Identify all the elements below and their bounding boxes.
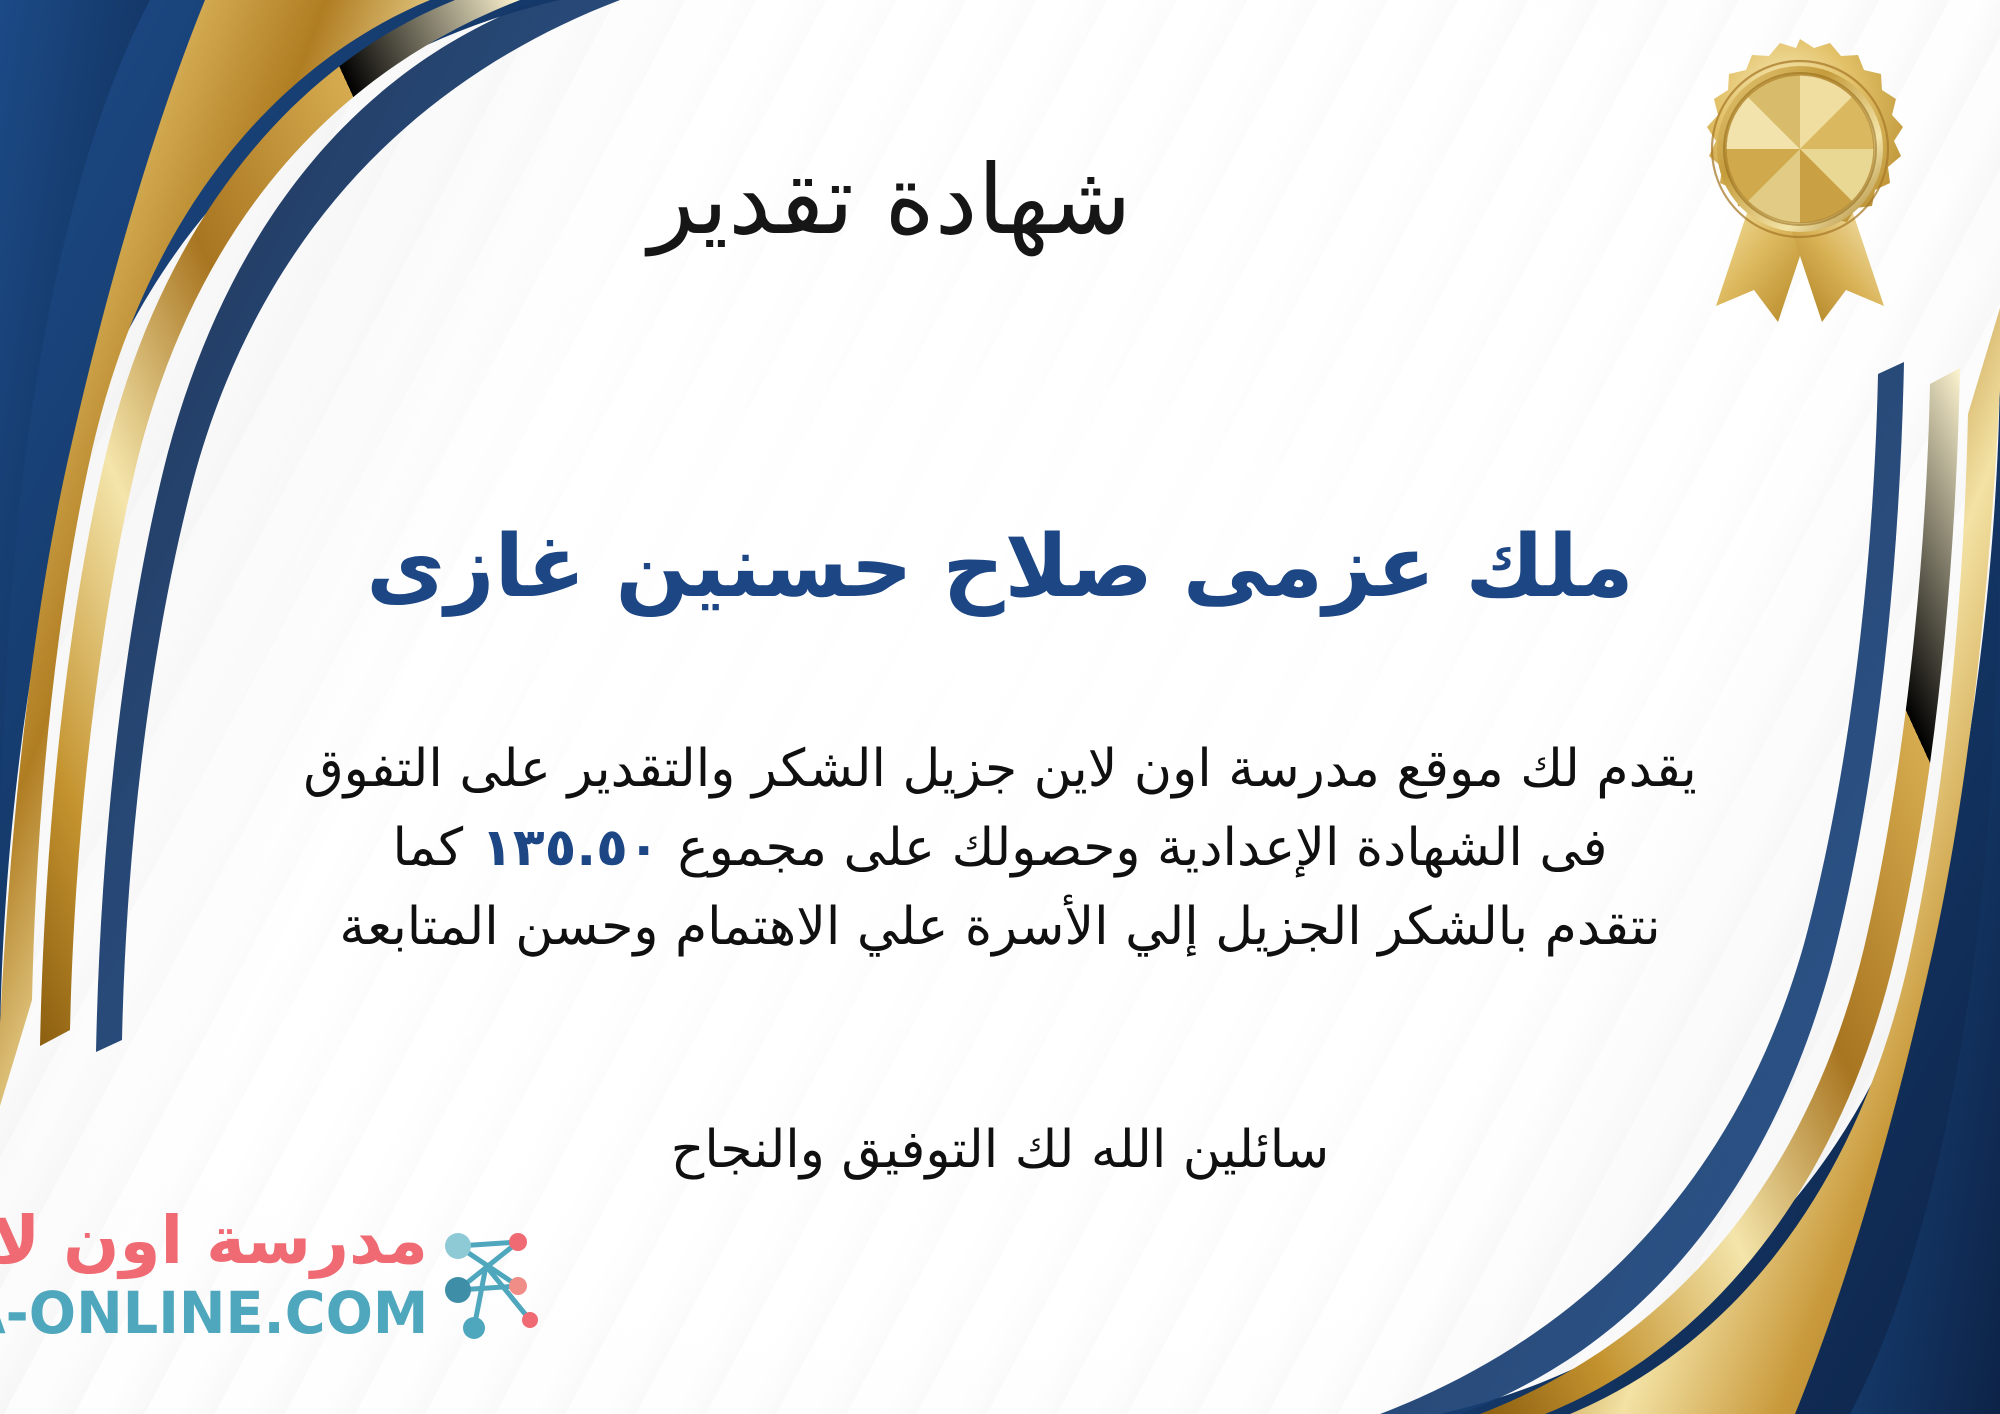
logo-domain-text: MADRSA-ONLINE.COM bbox=[0, 1284, 428, 1342]
page-title: شهادة تقدير bbox=[0, 150, 2000, 251]
body-line-3: نتقدم بالشكر الجزيل إلي الأسرة علي الاهت… bbox=[0, 888, 2000, 967]
body-line-1: يقدم لك موقع مدرسة اون لاين جزيل الشكر و… bbox=[0, 730, 2000, 809]
body-line-2-suffix: كما bbox=[392, 818, 463, 878]
score-value: ١٣٥.٥٠ bbox=[463, 818, 677, 878]
certificate-body: يقدم لك موقع مدرسة اون لاين جزيل الشكر و… bbox=[0, 730, 2000, 967]
body-line-2-prefix: فى الشهادة الإعدادية وحصولك على مجموع bbox=[678, 818, 1608, 878]
body-line-2: فى الشهادة الإعدادية وحصولك على مجموع١٣٥… bbox=[0, 809, 2000, 888]
network-nodes-icon bbox=[434, 1216, 546, 1346]
site-logo[interactable]: مدرسة اون لاين MADRSA-ONLINE.COM bbox=[26, 1202, 546, 1382]
closing-wish: سائلين الله لك التوفيق والنجاح bbox=[0, 1120, 2000, 1180]
logo-arabic-text: مدرسة اون لاين bbox=[0, 1208, 428, 1274]
certificate-canvas: شهادة تقدير ملك عزمى صلاح حسنين غازى يقد… bbox=[0, 0, 2000, 1414]
recipient-name: ملك عزمى صلاح حسنين غازى bbox=[0, 520, 2000, 615]
